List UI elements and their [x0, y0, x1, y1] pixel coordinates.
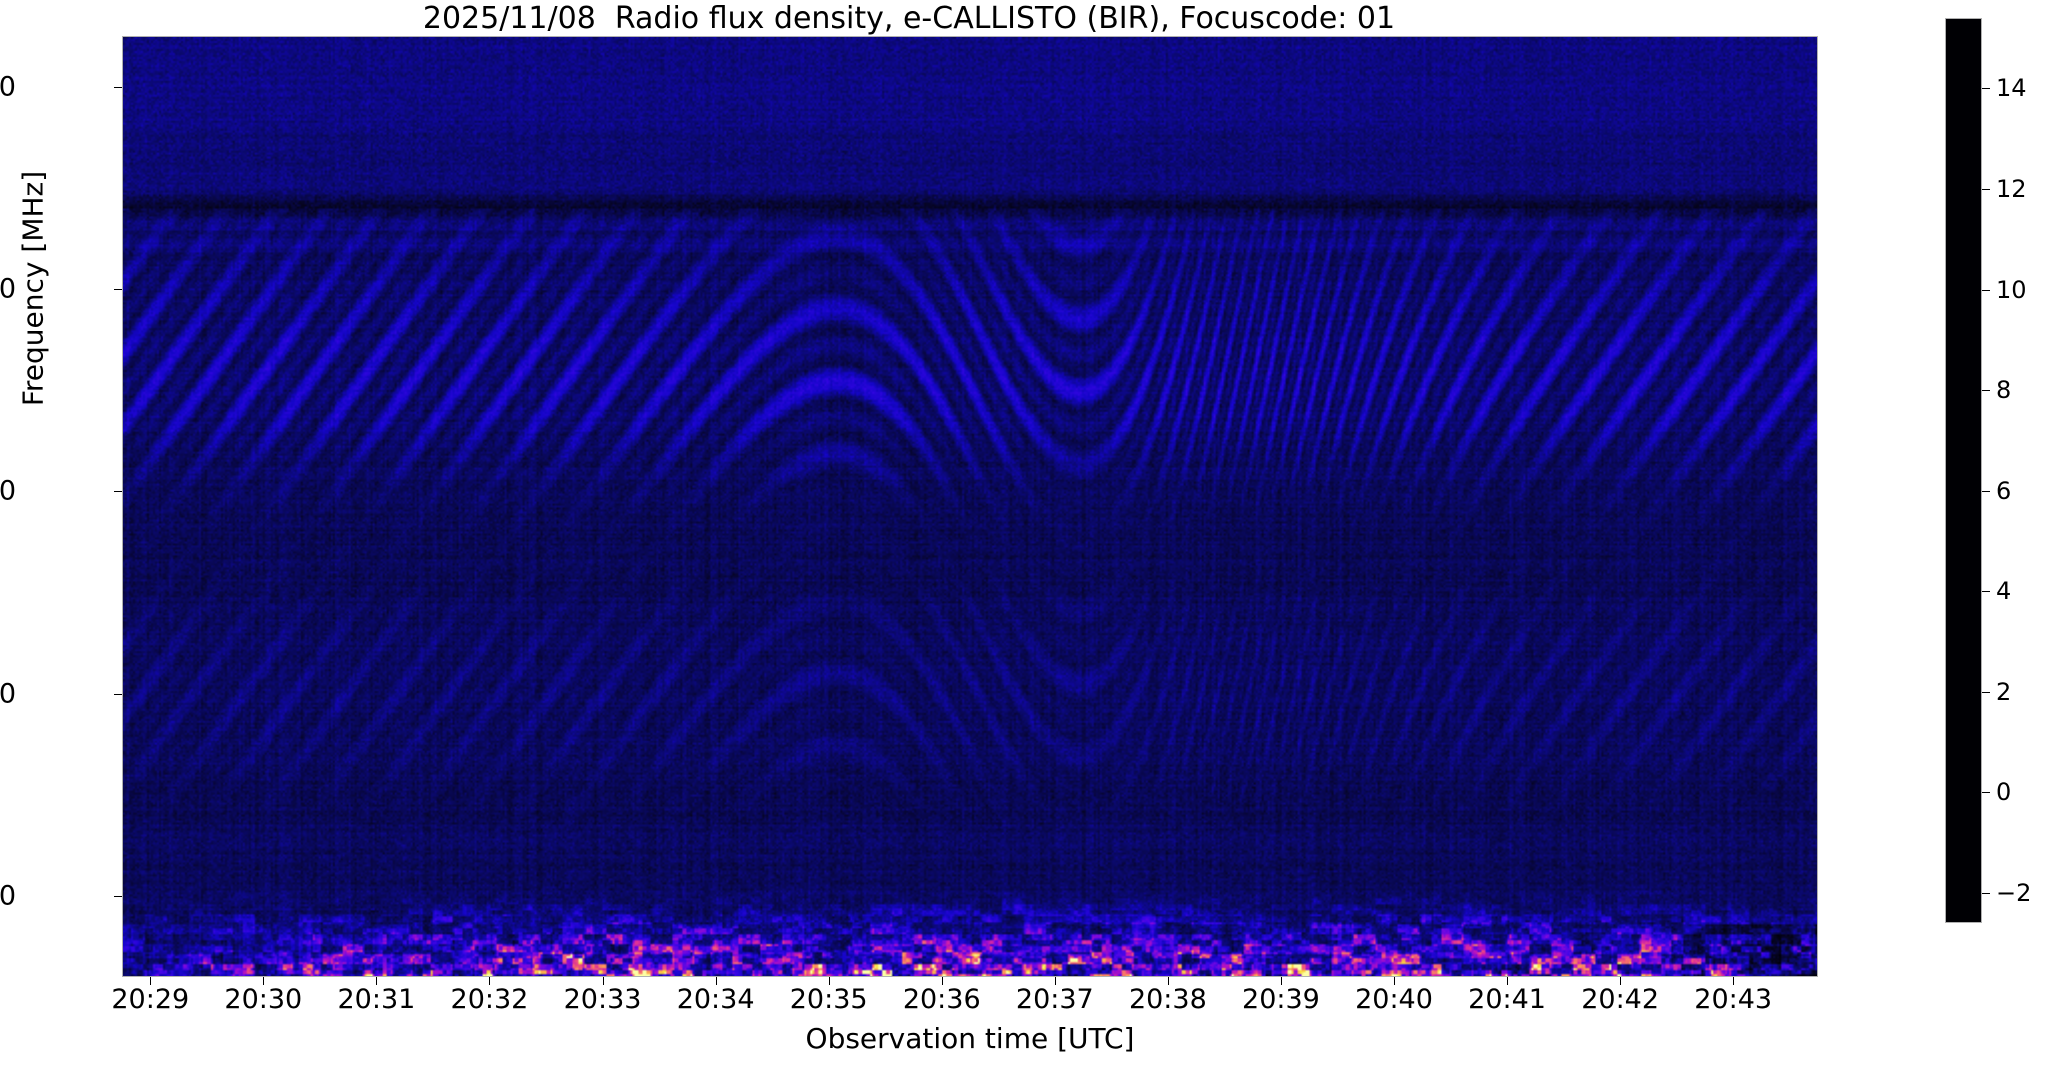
x-tick-label: 20:29	[111, 984, 189, 1015]
x-tick-label: 20:41	[1468, 984, 1546, 1015]
x-tick-mark	[489, 977, 490, 985]
page-title: 2025/11/08 Radio flux density, e-CALLIST…	[0, 2, 1818, 36]
colorbar-tick-label: 6	[1996, 477, 2011, 505]
x-tick-mark	[1168, 977, 1169, 985]
colorbar-tick-mark	[1982, 390, 1990, 391]
y-tick-label: 100	[0, 71, 16, 102]
y-tick-mark	[114, 289, 122, 290]
y-tick-label: 60	[0, 476, 16, 507]
y-axis-label: Frequency [MHz]	[17, 19, 50, 559]
x-tick-label: 20:33	[564, 984, 642, 1015]
colorbar-tick-mark	[1982, 88, 1990, 89]
y-tick-label: 40	[0, 678, 16, 709]
y-tick-mark	[114, 694, 122, 695]
colorbar-tick-mark	[1982, 692, 1990, 693]
x-tick-label: 20:40	[1355, 984, 1433, 1015]
x-tick-mark	[829, 977, 830, 985]
y-tick-mark	[114, 87, 122, 88]
x-tick-mark	[1507, 977, 1508, 985]
x-tick-label: 20:32	[451, 984, 529, 1015]
x-tick-mark	[1055, 977, 1056, 985]
x-tick-label: 20:38	[1129, 984, 1207, 1015]
x-tick-mark	[263, 977, 264, 985]
y-tick-label: 20	[0, 881, 16, 912]
y-tick-mark	[114, 491, 122, 492]
x-tick-label: 20:43	[1694, 984, 1772, 1015]
y-tick-mark	[114, 896, 122, 897]
colorbar-tick-mark	[1982, 591, 1990, 592]
spectrogram-image	[123, 37, 1817, 976]
x-tick-mark	[1733, 977, 1734, 985]
x-tick-label: 20:30	[224, 984, 302, 1015]
figure-canvas: 2025/11/08 Radio flux density, e-CALLIST…	[0, 0, 2066, 1067]
x-tick-label: 20:35	[790, 984, 868, 1015]
colorbar-tick-label: −2	[1996, 879, 2031, 907]
spectrogram-axes	[122, 36, 1818, 977]
colorbar-tick-mark	[1982, 792, 1990, 793]
x-tick-mark	[603, 977, 604, 985]
x-tick-mark	[716, 977, 717, 985]
colorbar-tick-label: 2	[1996, 678, 2011, 706]
colorbar-tick-label: 14	[1996, 74, 2027, 102]
x-tick-mark	[1620, 977, 1621, 985]
x-tick-label: 20:36	[903, 984, 981, 1015]
x-tick-mark	[942, 977, 943, 985]
colorbar-tick-label: 10	[1996, 276, 2027, 304]
colorbar-tick-label: 8	[1996, 376, 2011, 404]
x-tick-label: 20:37	[1016, 984, 1094, 1015]
x-tick-label: 20:31	[337, 984, 415, 1015]
colorbar-tick-label: 4	[1996, 577, 2011, 605]
x-tick-mark	[1394, 977, 1395, 985]
x-axis-label: Observation time [UTC]	[122, 1022, 1818, 1055]
x-tick-label: 20:42	[1581, 984, 1659, 1015]
colorbar-tick-label: 0	[1996, 778, 2011, 806]
x-tick-label: 20:39	[1242, 984, 1320, 1015]
y-tick-label: 80	[0, 273, 16, 304]
colorbar-tick-mark	[1982, 290, 1990, 291]
colorbar-tick-mark	[1982, 893, 1990, 894]
x-tick-mark	[1281, 977, 1282, 985]
colorbar	[1945, 18, 1982, 923]
colorbar-tick-mark	[1982, 491, 1990, 492]
colorbar-tick-mark	[1982, 189, 1990, 190]
x-tick-label: 20:34	[677, 984, 755, 1015]
colorbar-gradient	[1946, 19, 1981, 922]
x-tick-mark	[150, 977, 151, 985]
colorbar-tick-label: 12	[1996, 175, 2027, 203]
x-tick-mark	[376, 977, 377, 985]
